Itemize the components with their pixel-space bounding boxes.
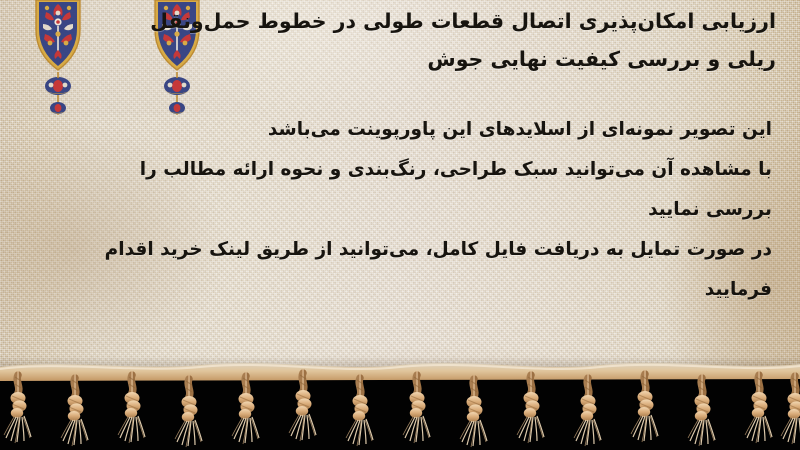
presentation-slide: ارزیابی امکان‌پذیری اتصال قطعات طولی در … — [0, 0, 800, 450]
fringe-svg — [0, 345, 800, 450]
carpet-knotted-tassel-fringe — [0, 345, 800, 450]
slide-body: این تصویر نمونه‌ای از اسلایدهای این پاور… — [72, 110, 772, 310]
slide-title: ارزیابی امکان‌پذیری اتصال قطعات طولی در … — [136, 2, 776, 78]
slide-body-line-1: این تصویر نمونه‌ای از اسلایدهای این پاور… — [72, 110, 772, 150]
slide-title-line-1: ارزیابی امکان‌پذیری اتصال قطعات طولی در … — [136, 2, 776, 40]
slide-body-line-2: با مشاهده آن می‌توانید سبک طراحی، رنگ‌بن… — [72, 150, 772, 230]
slide-title-line-2: ریلی و بررسی کیفیت نهایی جوش — [136, 40, 776, 78]
slide-body-line-3: در صورت تمایل به دریافت فایل کامل، می‌تو… — [72, 230, 772, 310]
